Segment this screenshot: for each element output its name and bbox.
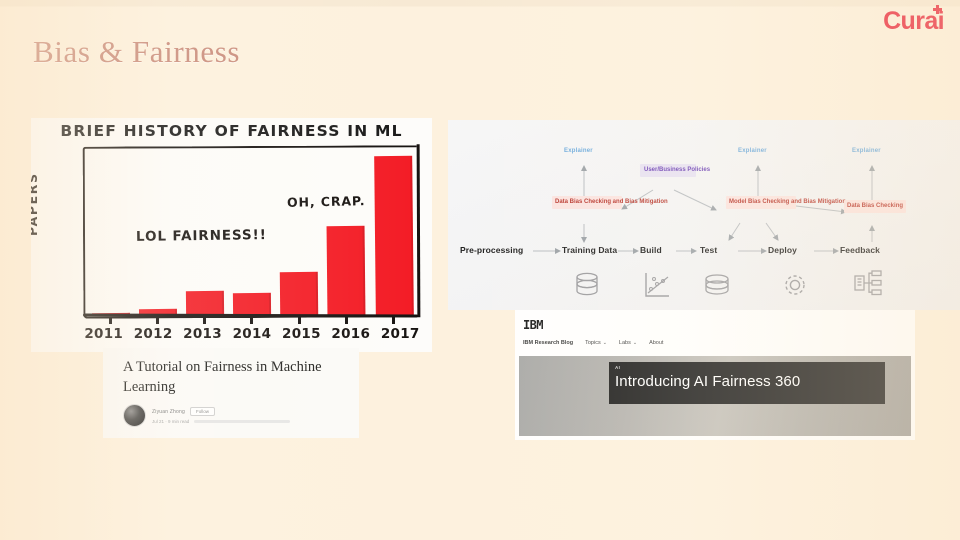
policy-node: User/Business Policies <box>640 164 696 177</box>
chart-tick <box>136 317 179 324</box>
ai-fairness-pipeline-diagram: Explainer Explainer Explainer User/Busin… <box>448 120 960 310</box>
ibm-nav-item[interactable]: About <box>649 340 663 346</box>
curai-logo: Curai <box>883 9 944 34</box>
chart-tick <box>325 317 368 324</box>
ibm-hero-image: AI Introducing AI Fairness 360 <box>519 356 911 436</box>
chart-tick <box>89 317 132 324</box>
chart-tick <box>372 317 415 324</box>
chart-annotation-lol: LOL FAIRNESS!! <box>136 227 267 245</box>
medical-cross-icon <box>933 5 942 14</box>
stage-build: Build <box>640 245 662 255</box>
ibm-research-blog-screenshot: IBM IBM Research BlogTopics⌄Labs⌄About A… <box>515 310 915 440</box>
stage-pre-processing: Pre-processing <box>460 245 523 255</box>
ibm-nav-item-label: Labs <box>619 340 631 346</box>
stage-deploy: Deploy <box>768 245 797 255</box>
chart-bar-slot <box>89 148 132 315</box>
stage-test: Test <box>700 245 717 255</box>
medium-article-card[interactable]: A Tutorial on Fairness in Machine Learni… <box>103 348 359 438</box>
database-icon <box>572 270 602 300</box>
explainer-label-1: Explainer <box>564 148 593 154</box>
chart-tick-label: 2017 <box>377 326 424 342</box>
byline-lines: Ziyuan Zhong Follow Jul 21 · 9 min read <box>152 407 290 424</box>
chart-bar <box>374 156 413 315</box>
ibm-nav-item[interactable]: IBM Research Blog <box>523 340 573 346</box>
bias-node-model: Model Bias Checking and Bias Mitigation <box>726 196 796 209</box>
ibm-nav-item-label: About <box>649 340 663 346</box>
chevron-down-icon: ⌄ <box>603 341 607 346</box>
scatter-chart-icon <box>642 270 672 300</box>
chart-tick-label: 2014 <box>229 326 276 342</box>
bias-node-data-preprocessing: Data Bias Checking and Bias Mitigation <box>552 196 622 209</box>
chart-x-tick-labels: 2011201220132014201520162017 <box>79 326 425 342</box>
chart-tick <box>278 317 321 324</box>
ibm-logo: IBM <box>523 318 543 332</box>
chart-bar <box>280 272 318 315</box>
fairness-history-chart: BRIEF HISTORY OF FAIRNESS IN ML PAPERS 2… <box>31 118 432 352</box>
byline-author-row: Ziyuan Zhong Follow <box>152 407 290 416</box>
ibm-nav-item-label: Topics <box>585 340 601 346</box>
byline-placeholder-line <box>194 420 290 423</box>
ibm-nav-bar: IBM Research BlogTopics⌄Labs⌄About <box>523 340 663 346</box>
chart-y-axis-label: PAPERS <box>31 172 40 236</box>
flowchart-icon <box>852 268 884 300</box>
chart-bar <box>327 226 366 315</box>
chart-title: BRIEF HISTORY OF FAIRNESS IN ML <box>31 122 432 140</box>
explainer-label-3: Explainer <box>852 148 881 154</box>
chart-bar <box>186 291 224 315</box>
ibm-hero-caption-band: AI Introducing AI Fairness 360 <box>609 362 885 404</box>
slide-canvas: Bias & Fairness Curai BRIEF HISTORY OF F… <box>0 0 960 540</box>
article-title: A Tutorial on Fairness in Machine Learni… <box>123 358 347 397</box>
chart-bar-slot <box>372 148 415 315</box>
chart-tick <box>231 317 274 324</box>
stage-training-data: Training Data <box>562 245 617 255</box>
author-name: Ziyuan Zhong <box>152 409 185 415</box>
chart-bar-slot <box>325 148 368 315</box>
byline-meta-row: Jul 21 · 9 min read <box>152 419 290 424</box>
ibm-hero-kicker: AI <box>615 365 620 370</box>
ibm-nav-item-label: IBM Research Blog <box>523 340 573 346</box>
article-meta: Jul 21 · 9 min read <box>152 419 189 424</box>
chevron-down-icon: ⌄ <box>633 341 637 346</box>
article-byline: Ziyuan Zhong Follow Jul 21 · 9 min read <box>123 404 290 427</box>
stage-feedback: Feedback <box>840 245 880 255</box>
chart-axis-right-rule <box>417 145 420 318</box>
chart-x-ticks <box>87 317 417 324</box>
chart-tick-label: 2015 <box>278 326 325 342</box>
ibm-nav-item[interactable]: Labs⌄ <box>619 340 637 346</box>
page-title: Bias & Fairness <box>33 34 240 70</box>
ibm-nav-item[interactable]: Topics⌄ <box>585 340 607 346</box>
explainer-label-2: Explainer <box>738 148 767 154</box>
database-icon <box>702 270 732 300</box>
chart-bar <box>233 293 271 316</box>
chart-tick-label: 2011 <box>80 326 127 342</box>
bias-node-feedback: Data Bias Checking <box>844 200 906 213</box>
chart-bar-slot <box>278 148 321 315</box>
chart-tick-label: 2012 <box>130 326 177 342</box>
chart-annotation-crap: OH, CRAP. <box>287 193 366 210</box>
ibm-hero-headline: Introducing AI Fairness 360 <box>615 373 800 390</box>
follow-button[interactable]: Follow <box>190 407 215 416</box>
chart-tick-label: 2016 <box>327 326 374 342</box>
author-avatar <box>123 404 146 427</box>
chart-tick-label: 2013 <box>179 326 226 342</box>
chart-tick <box>183 317 226 324</box>
gear-icon <box>780 270 810 300</box>
